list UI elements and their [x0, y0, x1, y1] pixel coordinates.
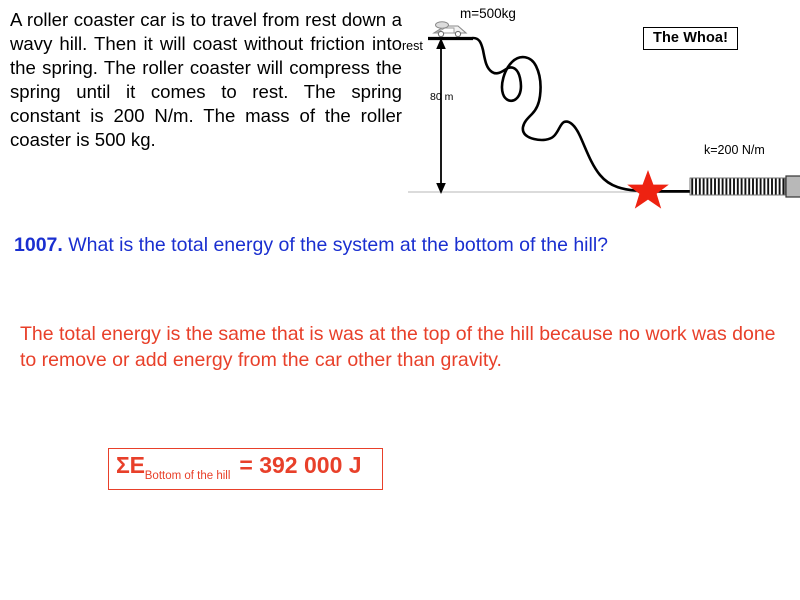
- result-box: ΣEBottom of the hill= 392 000 J: [108, 448, 383, 490]
- result-symbol: ΣE: [116, 452, 145, 478]
- bottom-of-hill-star-icon: [627, 170, 669, 209]
- roller-coaster-diagram: m=500kg rest 80 m k=200 N/m The Whoa!: [400, 0, 800, 215]
- result-value: = 392 000 J: [239, 452, 361, 478]
- result-equation: ΣEBottom of the hill= 392 000 J: [116, 452, 362, 479]
- mass-label: m=500kg: [460, 6, 516, 21]
- the-whoa-badge: The Whoa!: [643, 27, 738, 50]
- question-block: 1007. What is the total energy of the sy…: [14, 233, 754, 258]
- spring-icon: [690, 178, 785, 195]
- question-number: 1007.: [14, 234, 63, 256]
- question-text: What is the total energy of the system a…: [63, 234, 608, 256]
- answer-explanation: The total energy is the same that is was…: [20, 322, 784, 373]
- rest-label: rest: [402, 39, 423, 53]
- problem-statement-text: A roller coaster car is to travel from r…: [10, 8, 402, 152]
- height-label: 80 m: [430, 91, 453, 103]
- result-subscript: Bottom of the hill: [145, 470, 231, 482]
- end-block: [786, 176, 800, 197]
- spring-constant-label: k=200 N/m: [704, 143, 765, 157]
- hill-track-path: [473, 38, 648, 191]
- diagram-svg: [400, 0, 800, 215]
- roller-coaster-car-icon: [434, 22, 466, 37]
